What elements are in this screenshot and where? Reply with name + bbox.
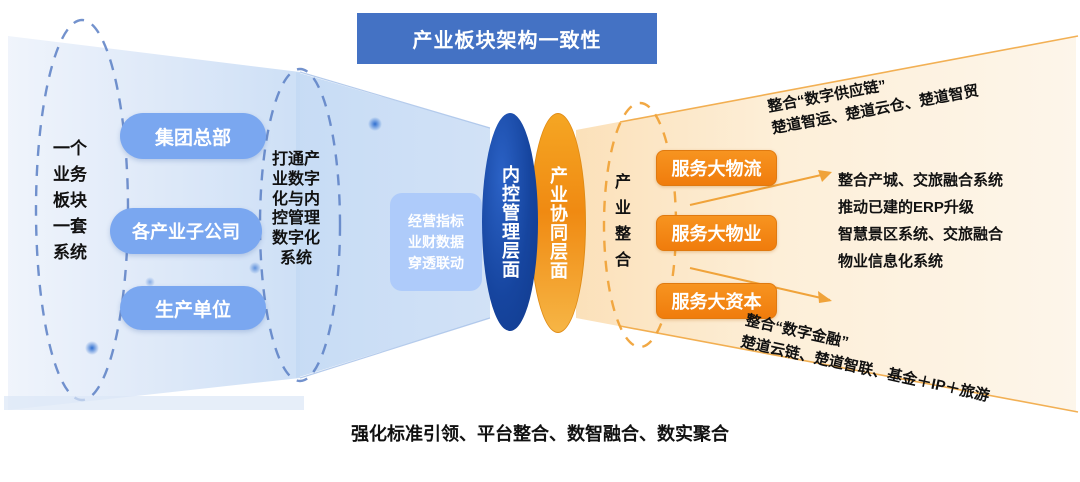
right-system-list: 整合产城、交旅融合系统 推动已建的ERP升级 智慧景区系统、交旅融合 物业信息化… [838, 173, 1068, 269]
integration-char-2: 业 [615, 201, 631, 217]
service-box-property: 服务大物业 [656, 215, 777, 251]
industry-collaboration-label: 产业协同层面 [549, 166, 567, 280]
integration-char-1: 产 [615, 175, 631, 191]
left-caption-line-2: 业务 [53, 166, 87, 183]
connect-digital-line-4: 控管理 [272, 211, 320, 228]
kpi-line-2: 业财数据 [408, 235, 464, 249]
industry-collaboration-ellipse: 产业协同层面 [530, 113, 586, 333]
left-caption-line-1: 一个 [53, 140, 87, 157]
integration-char-4: 合 [615, 253, 631, 269]
right-list-item-4: 物业信息化系统 [838, 254, 1068, 269]
right-list-item-3: 智慧景区系统、交旅融合 [838, 227, 1068, 242]
pill-production-unit: 生产单位 [120, 286, 266, 330]
inner-control-ellipse: 内控管理层面 [482, 113, 538, 331]
left-caption-line-3: 板块 [53, 192, 87, 209]
industry-integration-label: 产 业 整 合 [608, 175, 638, 269]
pill-subsidiary-companies: 各产业子公司 [110, 208, 262, 254]
connect-digital-line-5: 数字化 [272, 231, 320, 248]
kpi-line-3: 穿透联动 [408, 256, 464, 270]
connect-digital-line-1: 打通产 [272, 152, 320, 169]
connect-digital-text: 打通产 业数字 化与内 控管理 数字化 系统 [266, 152, 326, 268]
left-caption-line-4: 一套 [53, 218, 87, 235]
connect-digital-line-6: 系统 [280, 251, 312, 268]
connect-digital-line-3: 化与内 [272, 192, 320, 209]
kpi-box: 经营指标 业财数据 穿透联动 [390, 193, 482, 291]
left-caption: 一个 业务 板块 一套 系统 [42, 140, 98, 261]
integration-char-3: 整 [615, 227, 631, 243]
connect-digital-line-2: 业数字 [272, 172, 320, 189]
right-list-item-1: 整合产城、交旅融合系统 [838, 173, 1068, 188]
diagram-canvas: 产业板块架构一致性 一个 业务 板块 一套 系统 集团总部 各产业子公司 生产单… [0, 0, 1080, 482]
right-list-item-2: 推动已建的ERP升级 [838, 200, 1068, 215]
inner-control-label: 内控管理层面 [501, 165, 519, 279]
kpi-line-1: 经营指标 [408, 214, 464, 228]
title-text: 产业板块架构一致性 [413, 24, 602, 53]
left-caption-line-5: 系统 [53, 244, 87, 261]
title-banner: 产业板块架构一致性 [357, 13, 657, 64]
bottom-caption-text: 强化标准引领、平台整合、数智融合、数实聚合 [351, 424, 729, 444]
service-box-logistics: 服务大物流 [656, 150, 777, 186]
pill-group-headquarters: 集团总部 [120, 113, 266, 159]
bottom-caption: 强化标准引领、平台整合、数智融合、数实聚合 [0, 420, 1080, 446]
